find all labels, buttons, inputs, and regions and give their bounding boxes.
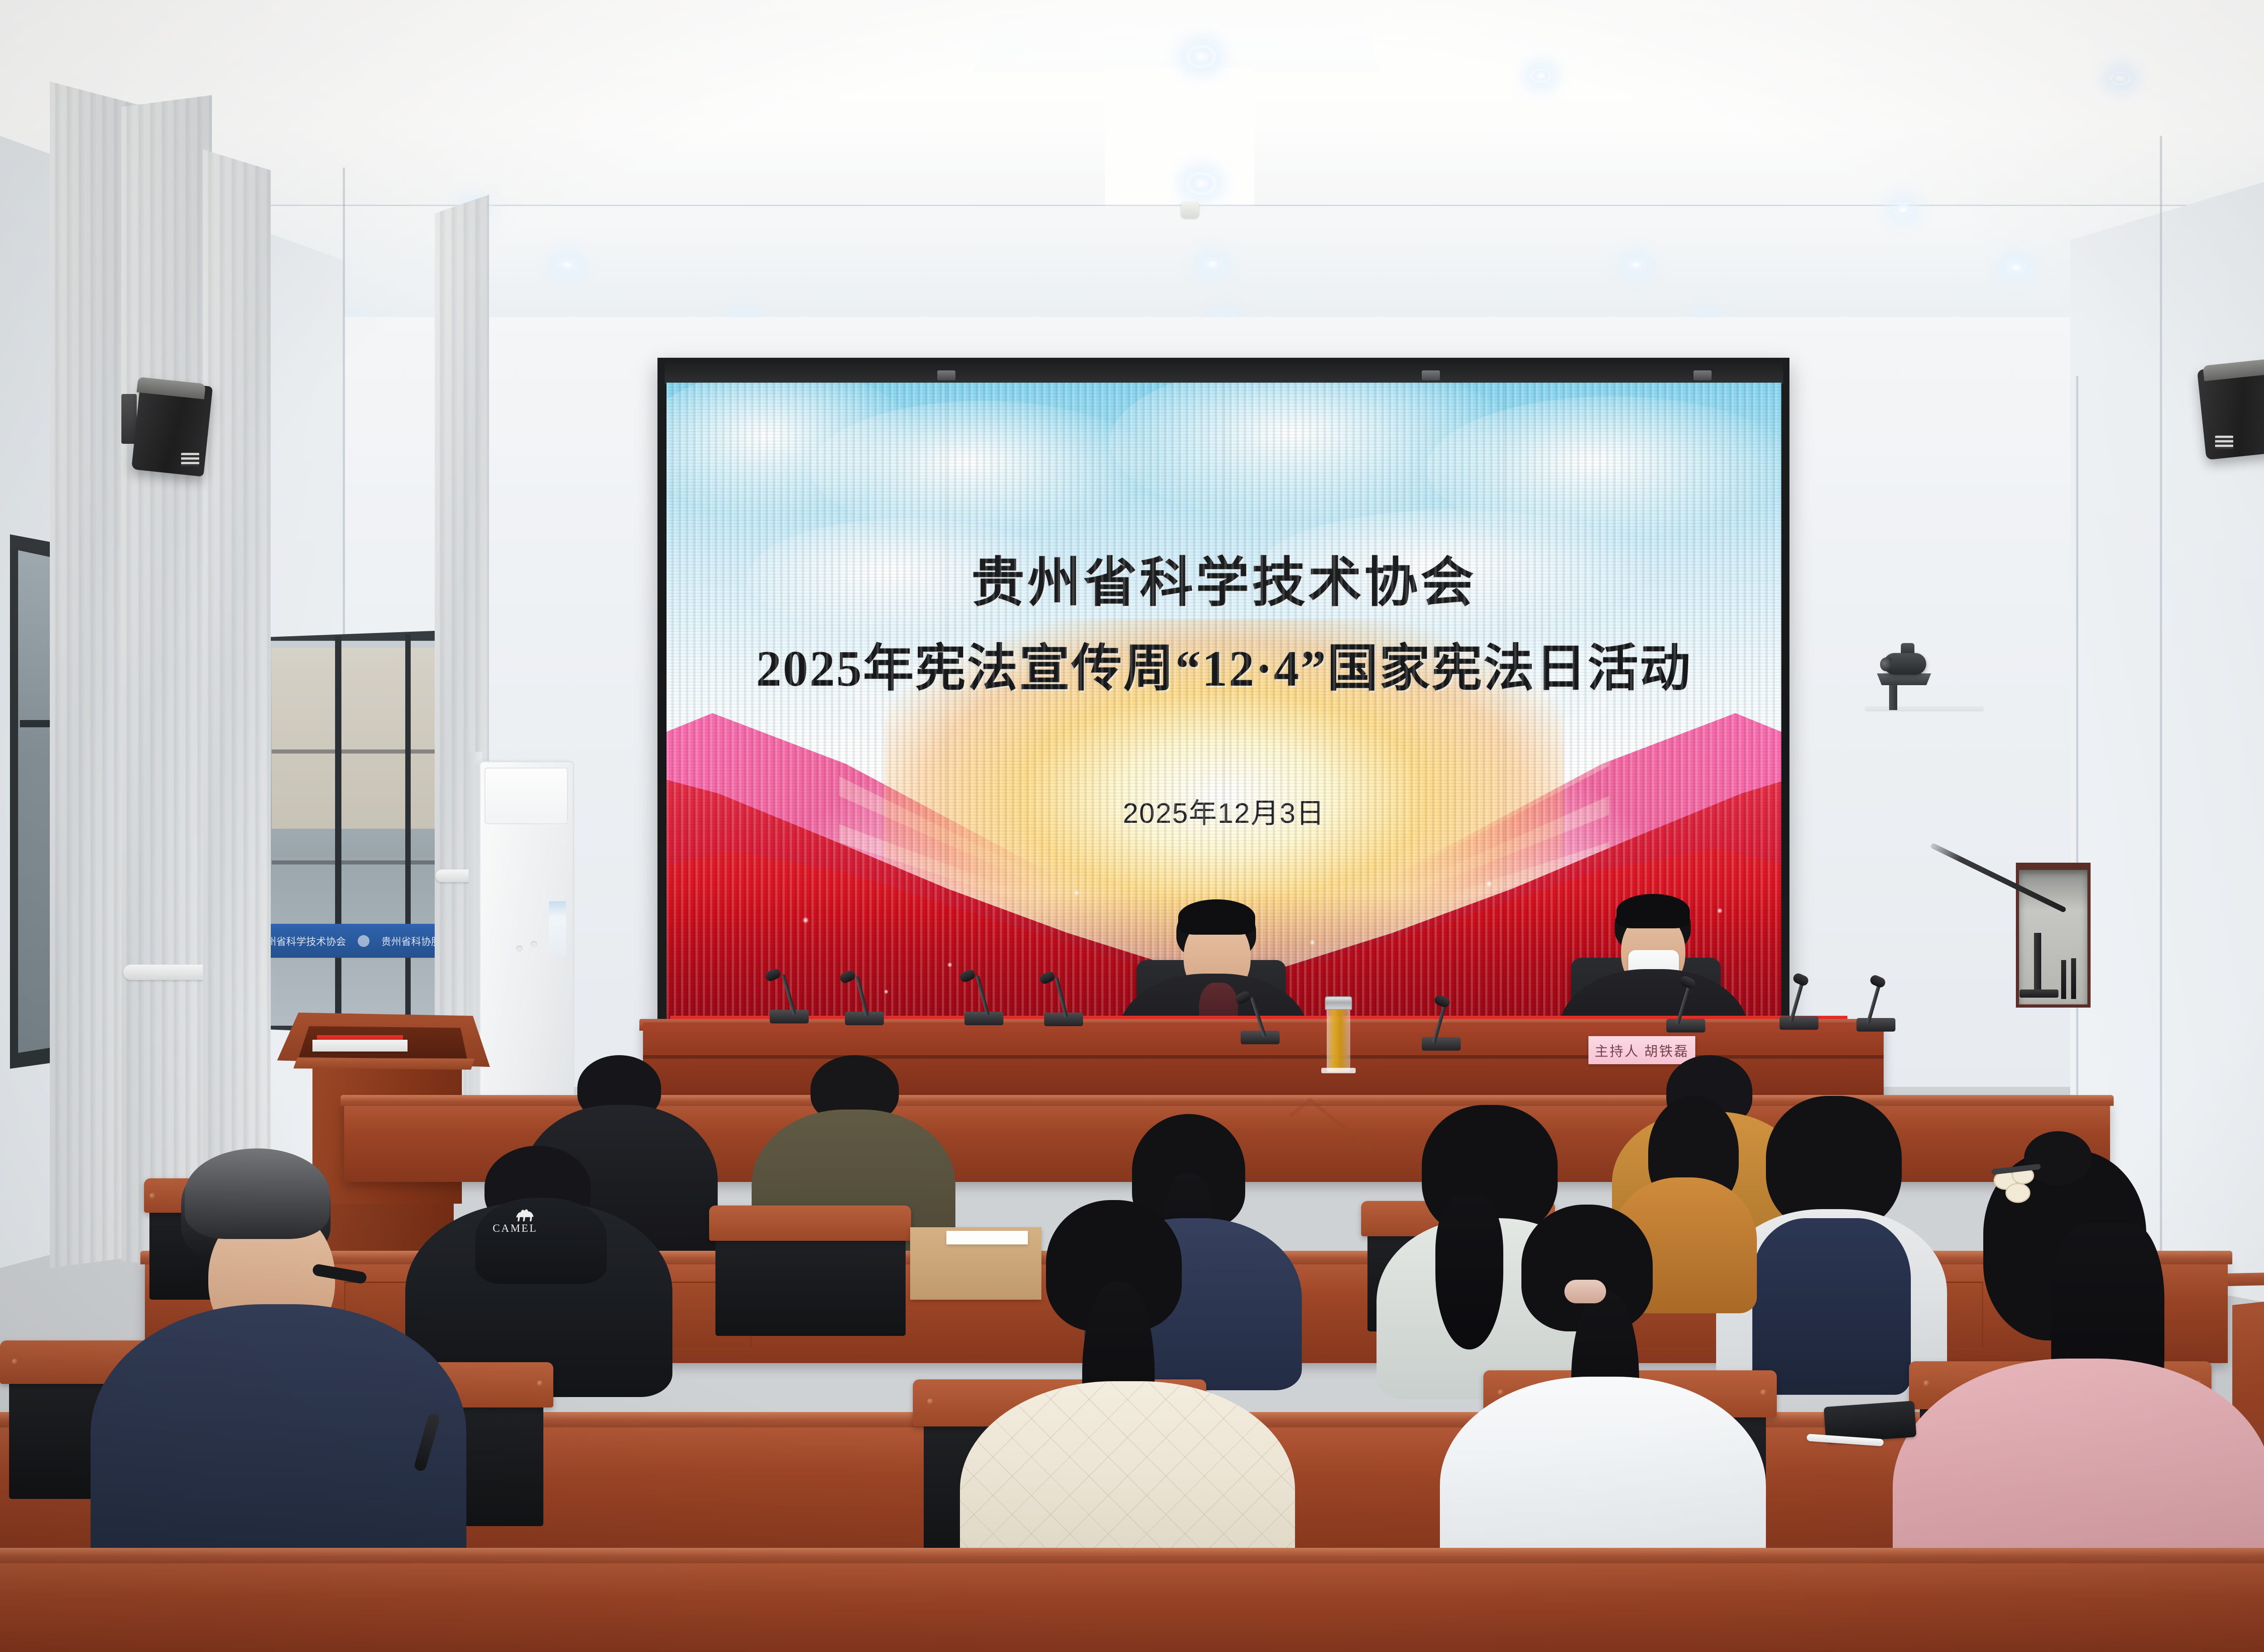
seat-rivet <box>12 1359 18 1365</box>
flower-hair-clip-icon <box>1989 1159 2052 1209</box>
screen-sparkle <box>1309 940 1315 945</box>
host-name-card-text: 主持人 胡铁磊 <box>1595 1040 1689 1060</box>
speaker-badge-icon <box>181 453 199 466</box>
ceiling-downlight-icon <box>2006 261 2027 274</box>
tea-tumbler <box>1327 1003 1350 1072</box>
ceiling-downlight-icon <box>1530 69 1551 82</box>
camel-logo-icon <box>513 1205 537 1224</box>
screen-sparkle <box>1717 908 1722 913</box>
microphone-stand-base <box>2019 989 2058 998</box>
ceiling-downlight-icon <box>2110 72 2131 85</box>
led-screen-mount <box>1422 370 1440 380</box>
front-bench-rail-top <box>0 1548 2264 1563</box>
microphone-stand-icon <box>2034 933 2041 996</box>
lectern-document <box>312 1040 408 1052</box>
outside-building <box>272 648 453 829</box>
window-mullion <box>405 634 411 1028</box>
ceiling-downlight-icon <box>1626 258 1646 272</box>
screen-sparkle <box>947 962 952 967</box>
curtain-tieback <box>123 965 212 980</box>
air-conditioner-label <box>549 901 566 956</box>
smoke-detector-icon <box>1181 202 1199 218</box>
camera-mount <box>1875 673 1933 685</box>
paper-sheet <box>946 1231 1028 1244</box>
speaker-badge-icon <box>2215 436 2233 449</box>
led-panel-seam <box>1503 383 1504 1028</box>
niche-rod <box>2061 960 2066 999</box>
audience-seat-back[interactable] <box>709 1205 911 1241</box>
camel-brand-text: CAMEL <box>493 1223 574 1234</box>
camera-pole <box>1889 684 1897 710</box>
wall-niche <box>2016 863 2091 1008</box>
seat-rivet <box>537 1380 543 1387</box>
ceiling-recess-panel <box>974 0 1381 72</box>
screen-sparkle <box>1074 890 1080 896</box>
ceiling-downlight-icon <box>1893 203 1914 216</box>
screen-sparkle <box>1486 881 1492 887</box>
hoodie-hood <box>475 1198 607 1284</box>
led-screen-top-housing <box>665 362 1783 384</box>
ceiling-downlight-icon <box>1186 45 1216 68</box>
seat-rivet <box>1498 1389 1504 1396</box>
outside-railing <box>272 860 453 864</box>
wall-pilaster-right <box>2160 136 2162 1268</box>
camera-shelf <box>1866 706 1983 710</box>
seat-rivet <box>1760 1389 1767 1396</box>
curtain-panel <box>203 149 271 1191</box>
conference-room-photo: 贵州省科学技术协会 贵州省科协服务中心 <box>0 0 2264 1652</box>
led-panel-seam <box>945 383 946 1028</box>
curtain-panel <box>121 95 212 1273</box>
seat-rivet <box>149 1193 156 1199</box>
outside-railing <box>272 749 453 754</box>
host-name-card: 主持人 胡铁磊 <box>1588 1036 1695 1064</box>
ceiling-recess-drop <box>1105 68 1254 217</box>
screen-sparkle <box>802 917 809 923</box>
led-screen-mount <box>937 370 955 380</box>
ceiling-downlight-icon <box>1202 257 1223 271</box>
front-bench-rail <box>0 1558 2264 1652</box>
window-mullion <box>335 636 341 1028</box>
outside-blue-banner: 贵州省科学技术协会 贵州省科协服务中心 <box>270 924 457 958</box>
tea-tumbler-lid <box>1325 996 1352 1010</box>
lectern-lip <box>293 1058 475 1070</box>
air-conditioner-vent <box>484 768 568 824</box>
ceiling-downlight-icon <box>557 258 578 272</box>
ceiling-downlight-icon <box>1186 172 1216 195</box>
vest-navy <box>1752 1218 1911 1395</box>
camera-lens-icon <box>1880 658 1892 671</box>
seat-rivet <box>927 1398 934 1405</box>
air-conditioner-button[interactable] <box>531 941 537 947</box>
air-conditioner-button[interactable] <box>516 946 523 952</box>
banner-logo-icon <box>358 935 369 947</box>
banner-text-left: 贵州省科学技术协会 <box>270 934 346 948</box>
led-screen-mount <box>1693 370 1712 380</box>
seat-rivet <box>1923 1380 1930 1387</box>
tea-tumbler-coaster <box>1321 1068 1356 1073</box>
screen-cloud <box>811 401 1156 537</box>
niche-rod <box>2071 958 2076 999</box>
screen-sparkle <box>884 989 888 994</box>
hair-tie-icon <box>1564 1280 1606 1303</box>
